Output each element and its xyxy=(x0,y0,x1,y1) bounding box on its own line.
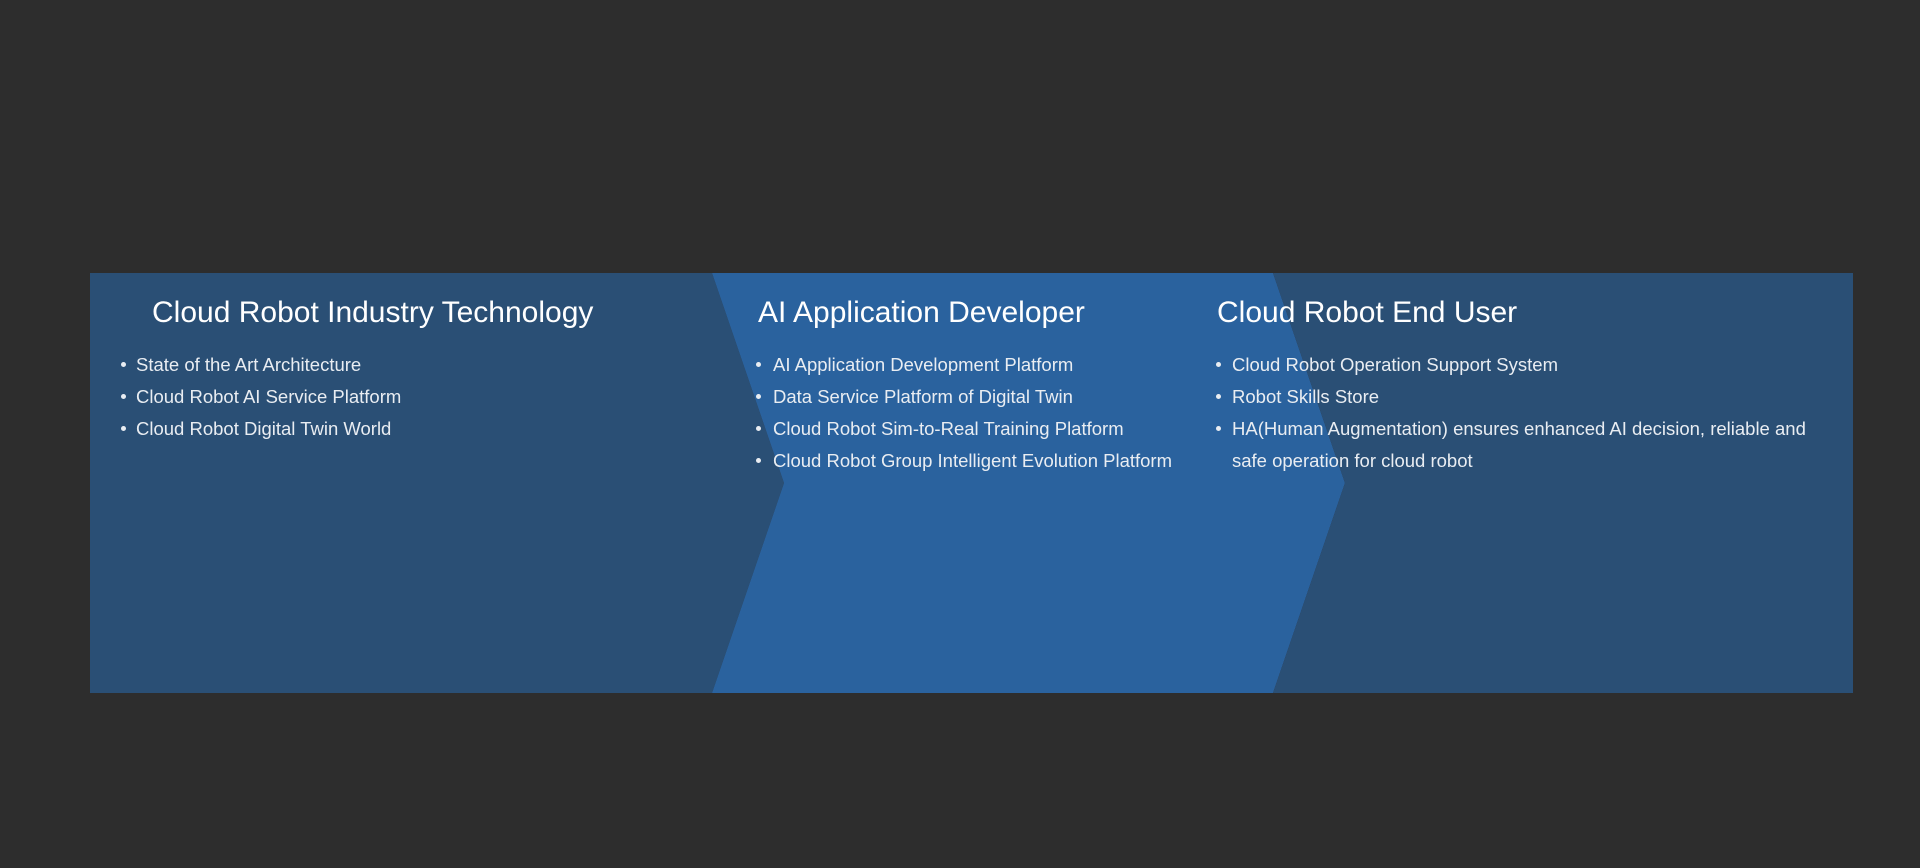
list-item: Cloud Robot Digital Twin World xyxy=(120,413,720,445)
segment-3-title: Cloud Robot End User xyxy=(1217,295,1835,331)
bullet-dot-icon xyxy=(756,458,761,463)
list-item: Cloud Robot Operation Support System xyxy=(1215,349,1835,381)
bullet-dot-icon xyxy=(121,426,126,431)
list-item: HA(Human Augmentation) ensures enhanced … xyxy=(1215,413,1835,477)
list-item: Cloud Robot AI Service Platform xyxy=(120,381,720,413)
segment-1-title: Cloud Robot Industry Technology xyxy=(152,295,720,331)
bullet-dot-icon xyxy=(756,394,761,399)
bullet-dot-icon xyxy=(1216,426,1221,431)
slide-canvas: Cloud Robot Industry Technology State of… xyxy=(0,0,1920,868)
bullet-dot-icon xyxy=(1216,394,1221,399)
chevron-diagram: Cloud Robot Industry Technology State of… xyxy=(90,273,1853,693)
list-item: Robot Skills Store xyxy=(1215,381,1835,413)
segment-3-bullet-list: Cloud Robot Operation Support System Rob… xyxy=(1215,349,1835,477)
bullet-dot-icon xyxy=(121,394,126,399)
list-item: State of the Art Architecture xyxy=(120,349,720,381)
bullet-dot-icon xyxy=(1216,362,1221,367)
segment-1-content: Cloud Robot Industry Technology State of… xyxy=(120,273,720,693)
bullet-dot-icon xyxy=(121,362,126,367)
bullet-dot-icon xyxy=(756,426,761,431)
segment-1-bullet-list: State of the Art Architecture Cloud Robo… xyxy=(120,349,720,445)
segment-3-content: Cloud Robot End User Cloud Robot Operati… xyxy=(1215,273,1835,693)
bullet-dot-icon xyxy=(756,362,761,367)
